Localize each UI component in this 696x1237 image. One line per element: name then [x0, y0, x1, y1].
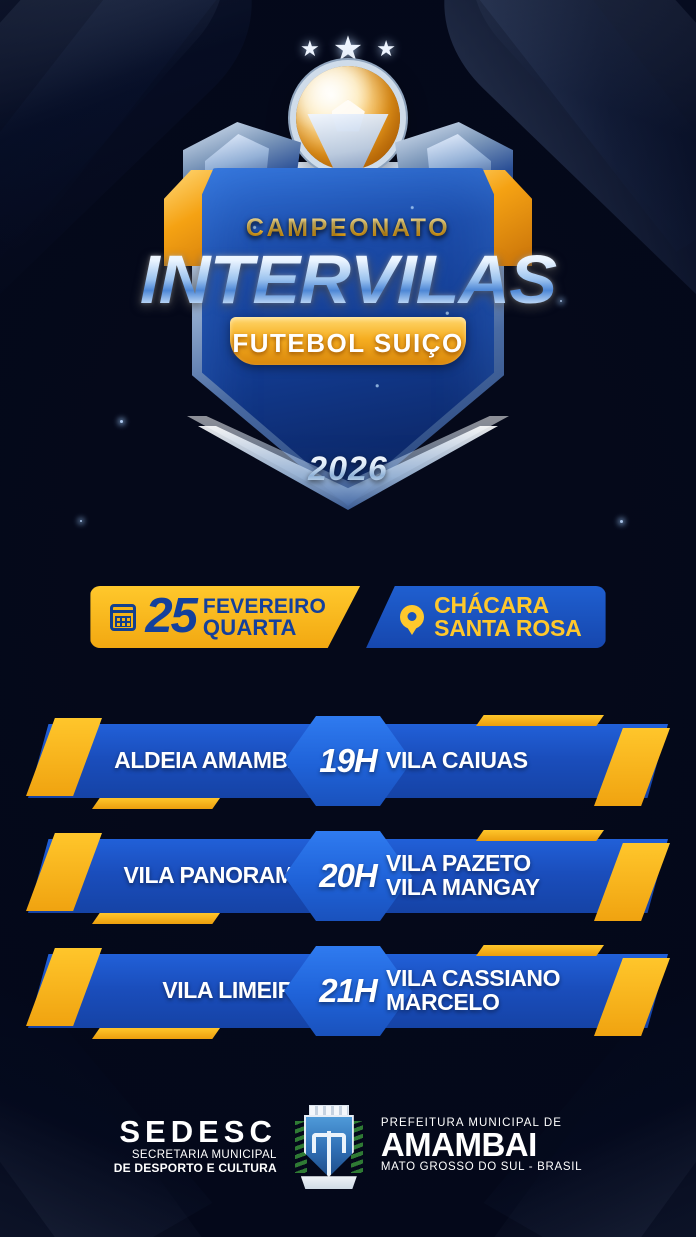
date-badge: 25 FEVEREIRO QUARTA: [90, 586, 360, 648]
sedesc-acronym: SEDESC: [114, 1116, 277, 1147]
date-weekday: QUARTA: [203, 617, 326, 639]
match-list: ALDEIA AMAMBAI 19H VILA CAIUAS VILA PANO…: [0, 716, 696, 1061]
stars-group: ★ ★ ★: [300, 32, 396, 66]
footer-logos: SEDESC SECRETARIA MUNICIPAL DE DESPORTO …: [0, 1099, 696, 1191]
star-icon: ★: [300, 38, 320, 60]
amambai-coat-of-arms-icon: [293, 1099, 365, 1191]
crest-shield: [304, 1115, 354, 1177]
prefeitura-logo: PREFEITURA MUNICIPAL DE AMAMBAI MATO GRO…: [381, 1117, 582, 1173]
date-month: FEVEREIRO: [203, 596, 326, 617]
venue-line-1: CHÁCARA: [434, 594, 582, 617]
away-team-name: VILA CAIUAS: [386, 749, 528, 773]
match-row: VILA LIMEIRA 21H VILA CASSIANO MARCELO: [0, 946, 696, 1036]
home-team-name: ALDEIA AMAMBAI: [114, 749, 310, 773]
home-team-name: VILA PANORAMA: [124, 864, 310, 888]
sedesc-line-1: SECRETARIA MUNICIPAL: [114, 1149, 277, 1161]
venue-line-2: SANTA ROSA: [434, 617, 582, 640]
map-pin-icon: [400, 605, 424, 629]
away-team: VILA CAIUAS: [386, 716, 636, 806]
date-day: 25: [145, 594, 196, 639]
emblem-title-text: INTERVILAS: [130, 240, 567, 319]
star-icon: ★: [376, 38, 396, 60]
away-team-name-line-1: VILA PAZETO: [386, 852, 540, 876]
sedesc-line-2: DE DESPORTO E CULTURA: [114, 1161, 277, 1175]
venue-badge: CHÁCARA SANTA ROSA: [366, 586, 606, 648]
emblem-year-text: 2026: [138, 450, 558, 489]
away-team: VILA PAZETO VILA MANGAY: [386, 831, 636, 921]
emblem-campeonato-text: CAMPEONATO: [138, 214, 558, 243]
prefeitura-state: MATO GROSSO DO SUL - BRASIL: [381, 1161, 582, 1173]
championship-emblem: ★ ★ ★ CAMPEONATO INTERVILAS FUTEBOL SUIÇ…: [138, 18, 558, 538]
sedesc-logo: SEDESC SECRETARIA MUNICIPAL DE DESPORTO …: [114, 1116, 277, 1175]
match-row: VILA PANORAMA 20H VILA PAZETO VILA MANGA…: [0, 831, 696, 921]
match-row: ALDEIA AMAMBAI 19H VILA CAIUAS: [0, 716, 696, 806]
away-team-name-line-2: VILA MANGAY: [386, 876, 540, 900]
away-team-name-line-1: VILA CASSIANO: [386, 967, 560, 991]
away-team: VILA CASSIANO MARCELO: [386, 946, 636, 1036]
emblem-subtitle-text: FUTEBOL SUIÇO: [138, 328, 558, 359]
star-icon: ★: [333, 32, 363, 66]
home-team: VILA LIMEIRA: [60, 946, 310, 1036]
home-team: ALDEIA AMAMBAI: [60, 716, 310, 806]
calendar-icon: [110, 604, 136, 631]
event-info-bar: 25 FEVEREIRO QUARTA CHÁCARA SANTA ROSA: [0, 586, 696, 648]
away-team-name-line-2: MARCELO: [386, 991, 560, 1015]
home-team: VILA PANORAMA: [60, 831, 310, 921]
prefeitura-name: AMAMBAI: [381, 1129, 582, 1161]
